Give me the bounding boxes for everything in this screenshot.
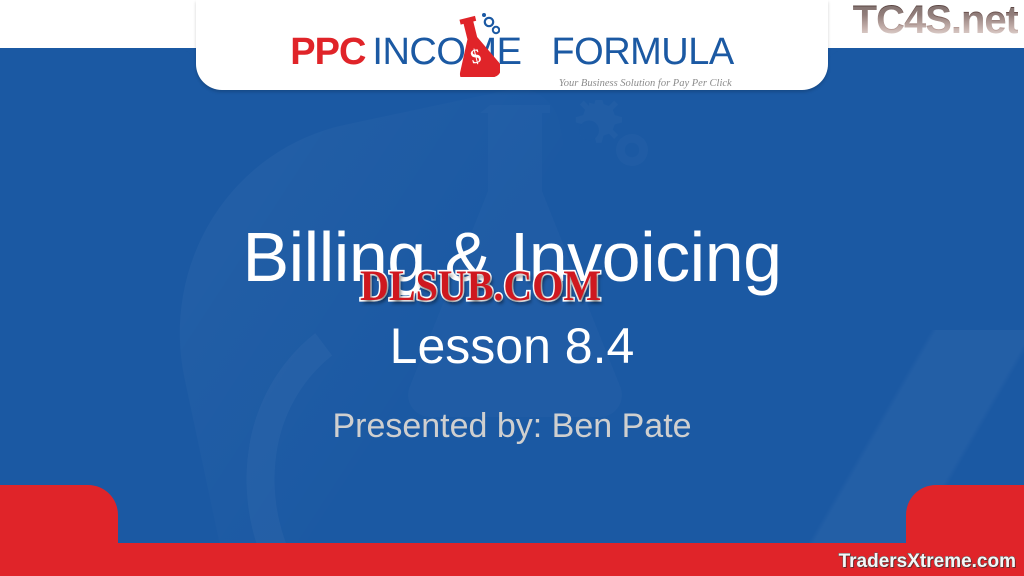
presentation-slide: PPC INCOME FORMULA $ Your Business Solut… — [0, 0, 1024, 576]
background-gear-small-icon — [612, 130, 652, 170]
footer-left-red-block — [0, 485, 118, 543]
brand-logo-inner: PPC INCOME FORMULA $ Your Business Solut… — [290, 17, 733, 73]
logo-text-ppc: PPC — [290, 31, 365, 73]
slide-lesson-number: Lesson 8.4 — [0, 317, 1024, 375]
flask-icon: $ — [448, 13, 500, 77]
watermark-tradersxtreme: TradersXtreme.com — [839, 551, 1016, 573]
slide-content: Billing & Invoicing Lesson 8.4 Presented… — [0, 215, 1024, 447]
watermark-tc4s: TC4S.net — [853, 0, 1018, 42]
footer-right-red-block — [906, 485, 1024, 543]
watermark-dlsub: DLSUB.COM — [360, 260, 601, 311]
logo-tagline: Your Business Solution for Pay Per Click — [559, 78, 732, 89]
slide-presenter: Presented by: Ben Pate — [0, 405, 1024, 447]
logo-text-formula: FORMULA — [551, 31, 733, 73]
